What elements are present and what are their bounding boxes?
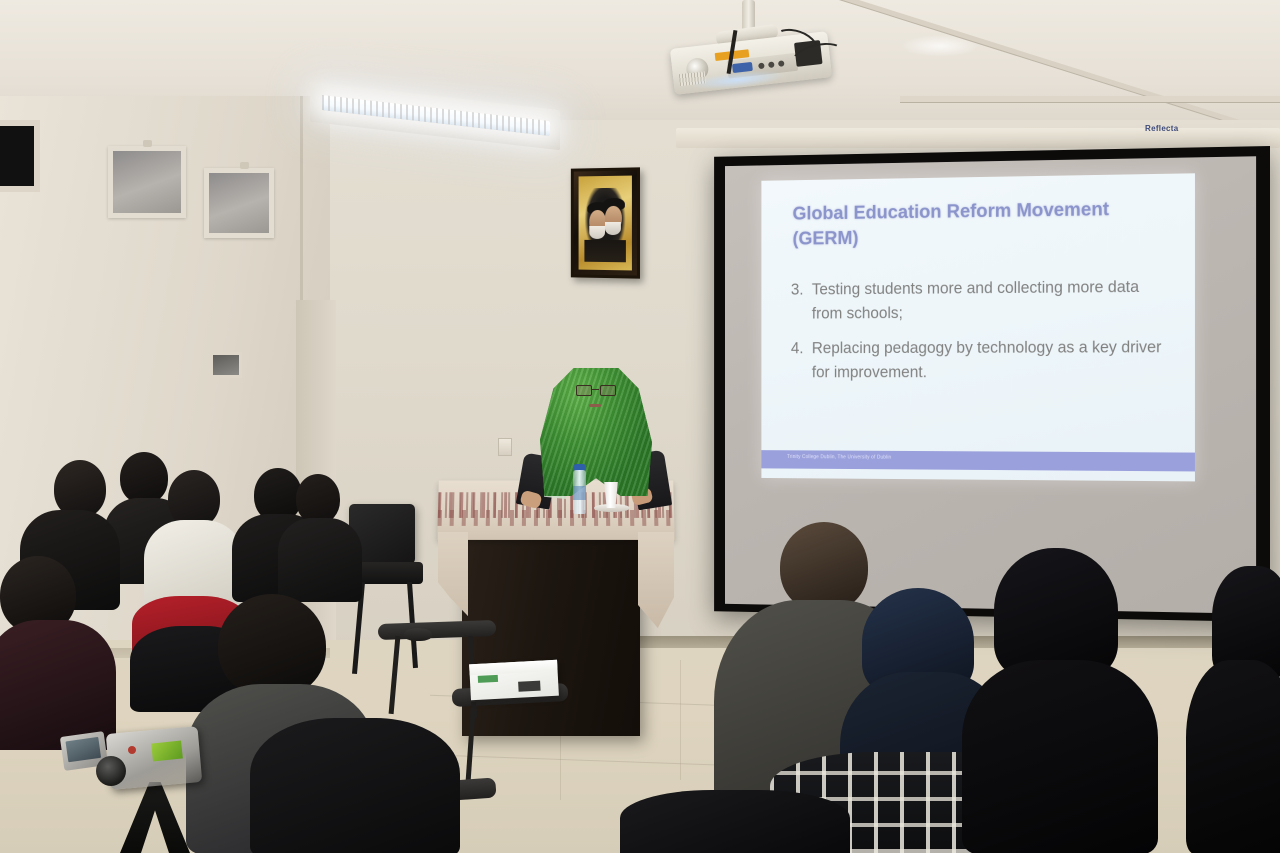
box-dark-label xyxy=(518,681,540,692)
wall-switch-panel[interactable] xyxy=(210,352,242,378)
window-hinge-icon xyxy=(240,162,249,169)
slide-title: Global Education Reform Movement (GERM) xyxy=(793,196,1162,252)
slide-footer-band: Trinity College Dublin, The University o… xyxy=(761,450,1195,471)
slide-bullet-text: Testing students more and collecting mor… xyxy=(812,275,1170,326)
window-upper-left xyxy=(108,146,186,218)
portrait-beard-right xyxy=(605,222,621,235)
slide-bullet-item: 4. Replacing pedagogy by technology as a… xyxy=(791,335,1170,385)
water-bottle-label xyxy=(573,486,586,500)
slide-title-line1: Global Education Reform Movement xyxy=(793,196,1162,227)
window-hinge-icon xyxy=(143,140,152,147)
wall-outlet xyxy=(498,438,512,456)
portrait-mat xyxy=(579,176,632,271)
speaker-eyeglasses xyxy=(576,385,614,394)
cloth-pattern-band xyxy=(438,510,675,526)
computer-mouse xyxy=(404,628,432,641)
window-dark-pane xyxy=(0,120,40,192)
slide-title-line2: (GERM) xyxy=(793,221,1162,251)
window-upper-right xyxy=(204,168,274,238)
eyeglass-bridge xyxy=(591,389,599,390)
lecture-hall-photo: Reflecta Global Education Reform Movemen… xyxy=(0,0,1280,853)
eyeglass-lens-left xyxy=(576,385,592,396)
slide-bullet-number: 3. xyxy=(791,278,804,326)
speaker-mouth xyxy=(589,404,601,407)
ceiling-conduit-horizontal xyxy=(900,96,1280,103)
white-equipment-box xyxy=(469,660,559,701)
camcorder-lens-icon xyxy=(96,756,126,786)
slide-bullet-text: Replacing pedagogy by technology as a ke… xyxy=(812,335,1170,385)
camcorder-lcd-screen xyxy=(65,737,101,762)
framed-portrait xyxy=(571,167,640,278)
camcorder-sticker xyxy=(151,740,183,761)
portrait-robes xyxy=(584,240,625,262)
projected-slide: Global Education Reform Movement (GERM) … xyxy=(761,173,1195,481)
camcorder-record-button[interactable] xyxy=(128,746,136,754)
screen-brand-label: Reflecta xyxy=(1145,124,1179,133)
slide-bullet-list: 3. Testing students more and collecting … xyxy=(791,275,1170,396)
eyeglass-lens-right xyxy=(600,385,616,396)
screen-casing xyxy=(676,128,1280,148)
slide-bullet-item: 3. Testing students more and collecting … xyxy=(791,275,1170,326)
portrait-beard-left xyxy=(589,226,605,239)
slide-bullet-number: 4. xyxy=(791,337,804,385)
slide-footer-text: Trinity College Dublin, The University o… xyxy=(787,454,891,460)
box-green-label xyxy=(478,675,498,683)
floor-tile-line xyxy=(680,660,681,780)
